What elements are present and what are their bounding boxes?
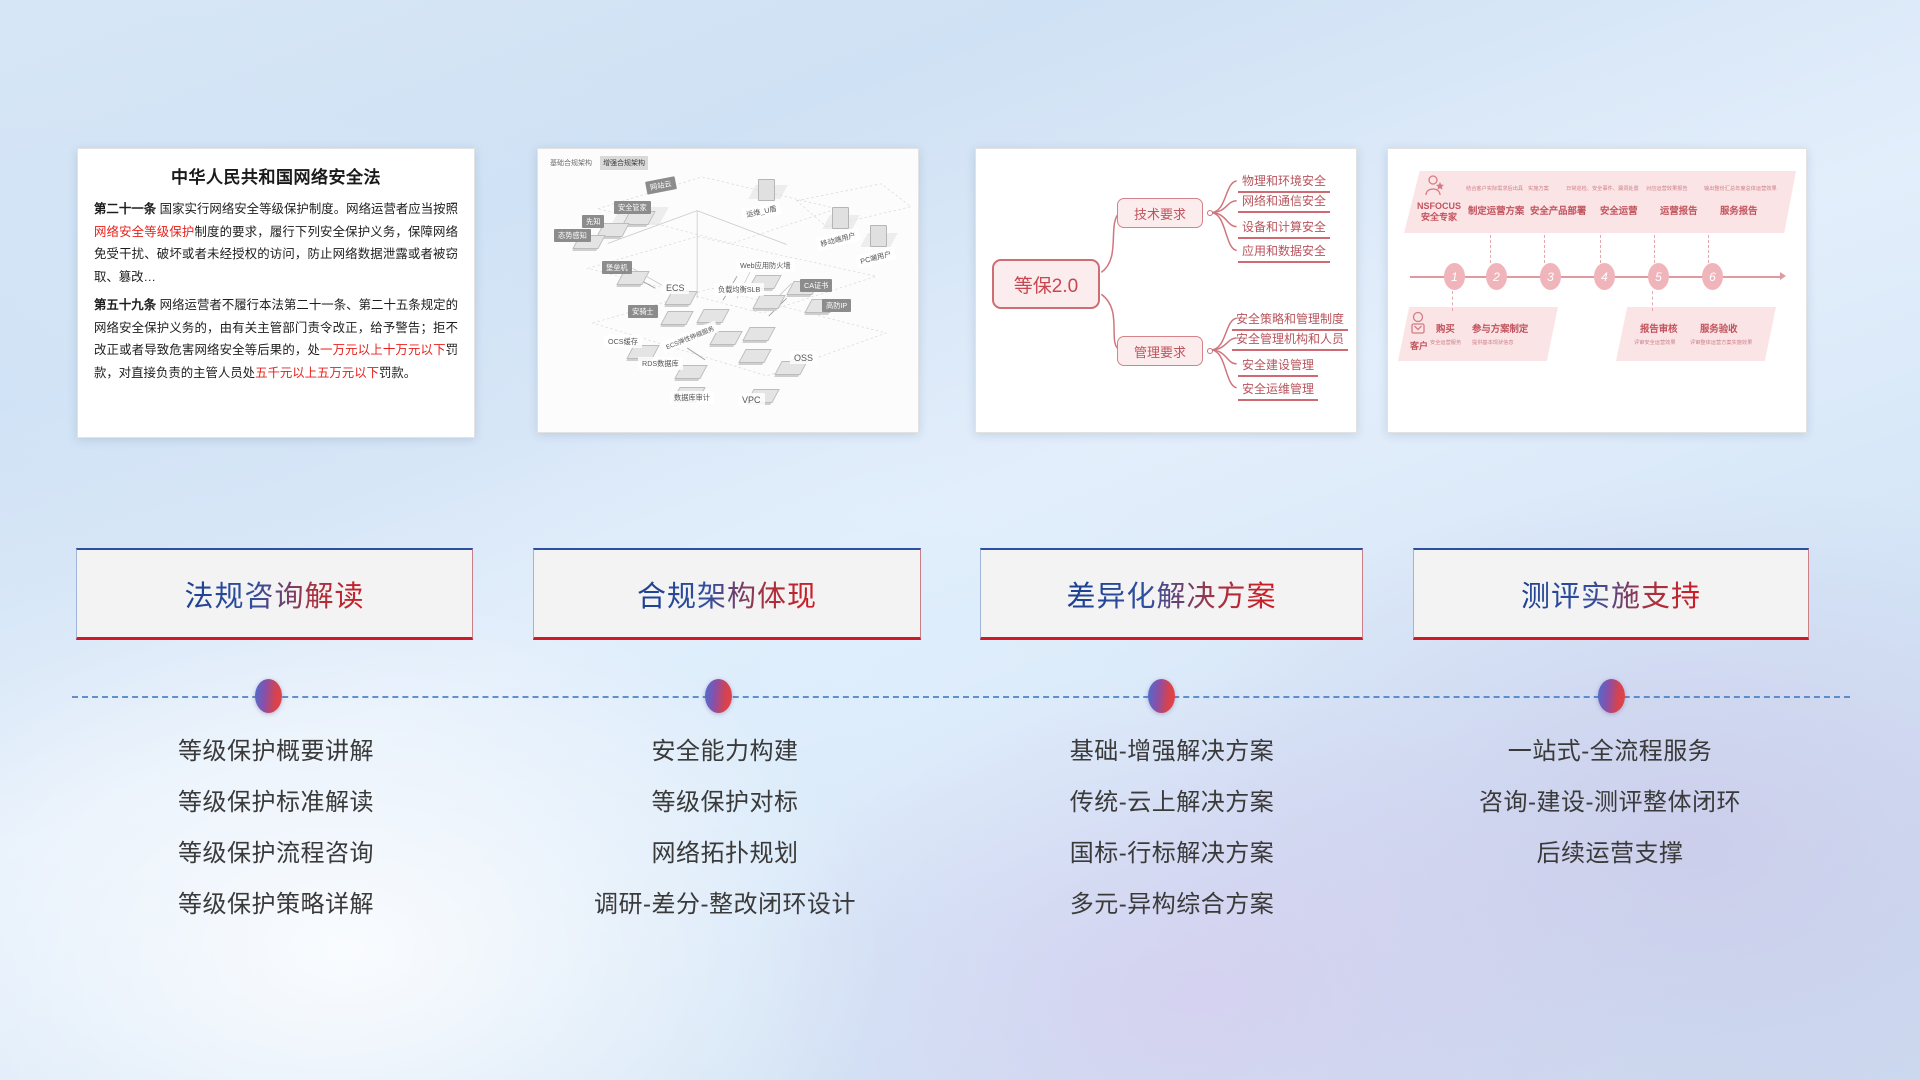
mindmap-leaf-physical-env: 物理和环境安全 xyxy=(1238,171,1330,193)
bottom-sub-2: 提供基本现状信息 xyxy=(1472,339,1514,346)
mindmap-leaf-network-comm: 网络和通信安全 xyxy=(1238,191,1330,213)
step-sub-2: 日常巡检、安全事件、漏洞处置 xyxy=(1566,185,1639,192)
expert-role: 安全专家 xyxy=(1410,212,1468,223)
step-title-5: 服务报告 xyxy=(1720,203,1758,217)
mindmap-branch-technical: 技术要求 xyxy=(1117,198,1203,228)
connector-2 xyxy=(1544,235,1545,263)
law-article-21: 第二十一条 国家实行网络安全等级保护制度。网络运营者应当按照网络安全等级保护制度… xyxy=(94,198,458,288)
timeline-node-3[interactable]: 3 xyxy=(1540,263,1561,290)
card-service-timeline: NSFOCUS 安全专家 客户 制定运营方案 结合客户实际需求后出具 实施方案 … xyxy=(1387,148,1807,433)
label-oss: OSS xyxy=(790,351,817,364)
step-sub-1: 结合客户实际需求后出具 xyxy=(1466,185,1523,192)
law-body: 第二十一条 国家实行网络安全等级保护制度。网络运营者应当按照网络安全等级保护制度… xyxy=(78,198,474,385)
bottom-title-2: 参与方案制定 xyxy=(1472,321,1528,335)
step-sub-3: 对应运营效果报告 xyxy=(1646,185,1688,192)
connector-6 xyxy=(1452,291,1453,311)
list-column-compliance-architecture: 安全能力构建 等级保护对标 网络拓扑规划 调研-差分-整改闭环设计 xyxy=(525,740,925,944)
heading-box-regulation-consulting[interactable]: 法规咨询解读 xyxy=(76,548,473,640)
bottom-title-3: 报告审核 xyxy=(1640,321,1678,335)
heading-label-1: 法规咨询解读 xyxy=(184,573,364,615)
timeline-bullet-2[interactable] xyxy=(705,679,732,713)
list-column-differentiated-solution: 基础-增强解决方案 传统-云上解决方案 国标-行标解决方案 多元-异构综合方案 xyxy=(972,740,1372,944)
list-item: 一站式-全流程服务 xyxy=(1410,740,1810,764)
list-item: 后续运营支撑 xyxy=(1410,842,1810,866)
mindmap-leaf-construction-mgmt: 安全建设管理 xyxy=(1238,355,1318,377)
law-article-59: 第五十九条 网络运营者不履行本法第二十一条、第二十五条规定的网络安全保护义务的，… xyxy=(94,294,458,384)
mindmap-leaf-org-personnel: 安全管理机构和人员 xyxy=(1232,329,1348,351)
list-item: 等级保护标准解读 xyxy=(76,791,476,815)
mindmap-dot-management xyxy=(1207,348,1213,354)
expert-brand: NSFOCUS xyxy=(1410,201,1468,212)
mindmap-leaf-device-compute: 设备和计算安全 xyxy=(1238,217,1330,239)
step-sub-1b: 实施方案 xyxy=(1528,185,1549,192)
heading-label-4: 测评实施支持 xyxy=(1521,573,1701,615)
server-pc-user xyxy=(870,225,887,247)
timeline-node-2[interactable]: 2 xyxy=(1486,263,1507,290)
label-xianzhi: 先知 xyxy=(582,215,604,228)
mindmap-root: 等保2.0 xyxy=(992,259,1100,309)
label-ca-certificate: CA证书 xyxy=(800,279,832,292)
heading-label-2: 合规架构体现 xyxy=(637,573,817,615)
card-cybersecurity-law: 中华人民共和国网络安全法 第二十一条 国家实行网络安全等级保护制度。网络运营者应… xyxy=(77,148,475,438)
label-security-butler: 安全管家 xyxy=(614,201,651,214)
timeline-node-4[interactable]: 4 xyxy=(1594,263,1615,290)
label-situation-awareness: 态势感知 xyxy=(554,229,591,242)
connector-4 xyxy=(1654,235,1655,263)
list-item: 等级保护概要讲解 xyxy=(76,740,476,764)
list-item: 安全能力构建 xyxy=(525,740,925,764)
expert-person-icon xyxy=(1424,175,1446,199)
article-59-fine-2: 五千元以上五万元以下 xyxy=(255,366,379,380)
bottom-title-4: 服务验收 xyxy=(1700,321,1738,335)
lists-row: 等级保护概要讲解 等级保护标准解读 等级保护流程咨询 等级保护策略详解 安全能力… xyxy=(0,740,1920,960)
label-ocs-cache: OCS缓存 xyxy=(604,335,642,348)
list-item: 等级保护流程咨询 xyxy=(76,842,476,866)
mindmap-branch-management: 管理要求 xyxy=(1117,336,1203,366)
label-ecs: ECS xyxy=(662,281,689,294)
label-gaofang-ip: 高防IP xyxy=(822,299,851,312)
label-slb: 负载均衡SLB xyxy=(714,283,764,296)
timeline-bullet-3[interactable] xyxy=(1148,679,1175,713)
timeline-node-5[interactable]: 5 xyxy=(1648,263,1669,290)
label-bastion-host: 堡垒机 xyxy=(602,261,632,274)
heading-box-assessment-support[interactable]: 测评实施支持 xyxy=(1413,548,1809,640)
list-item: 国标-行标解决方案 xyxy=(972,842,1372,866)
label-rds-database: RDS数据库 xyxy=(638,357,683,370)
step-title-2: 安全产品部署 xyxy=(1530,203,1586,217)
connector-1 xyxy=(1490,235,1491,263)
article-59-label: 第五十九条 xyxy=(94,298,156,312)
label-waf: Web应用防火墙 xyxy=(736,259,795,272)
timeline-bullet-4[interactable] xyxy=(1598,679,1625,713)
timeline-arrow-icon xyxy=(1780,272,1786,280)
card-mindmap-dengbao: 等保2.0 技术要求 物理和环境安全 网络和通信安全 设备和计算安全 应用和数据… xyxy=(975,148,1357,433)
bottom-sub-1: 安全运营服务 xyxy=(1430,339,1461,346)
list-column-regulation-consulting: 等级保护概要讲解 等级保护标准解读 等级保护流程咨询 等级保护策略详解 xyxy=(76,740,476,944)
list-item: 基础-增强解决方案 xyxy=(972,740,1372,764)
cards-row: 中华人民共和国网络安全法 第二十一条 国家实行网络安全等级保护制度。网络运营者应… xyxy=(0,148,1920,448)
customer-person-icon xyxy=(1408,311,1428,337)
article-59-fine-1: 一万元以上十万元以下 xyxy=(320,343,446,357)
article-21-text-1: 国家实行网络安全等级保护制度。网络运营者应当按照 xyxy=(156,202,458,216)
step-title-1: 制定运营方案 xyxy=(1468,203,1524,217)
article-21-highlight: 网络安全等级保护 xyxy=(94,225,194,239)
service-timeline: NSFOCUS 安全专家 客户 制定运营方案 结合客户实际需求后出具 实施方案 … xyxy=(1388,149,1806,432)
list-item: 咨询-建设-测评整体闭环 xyxy=(1410,791,1810,815)
mindmap: 等保2.0 技术要求 物理和环境安全 网络和通信安全 设备和计算安全 应用和数据… xyxy=(976,149,1356,432)
expert-actor-label: NSFOCUS 安全专家 xyxy=(1410,201,1468,224)
heading-box-compliance-architecture[interactable]: 合规架构体现 xyxy=(533,548,921,640)
timeline-node-6[interactable]: 6 xyxy=(1702,263,1723,290)
connector-3 xyxy=(1600,235,1601,263)
architecture-diagram: 基础合规架构 增强合规架构 xyxy=(538,149,918,432)
step-title-4: 运营报告 xyxy=(1660,203,1698,217)
connector-5 xyxy=(1708,235,1709,263)
list-item: 网络拓扑规划 xyxy=(525,842,925,866)
list-item: 等级保护策略详解 xyxy=(76,893,476,917)
list-item: 传统-云上解决方案 xyxy=(972,791,1372,815)
headings-row: 法规咨询解读 合规架构体现 差异化解决方案 测评实施支持 xyxy=(0,548,1920,648)
process-timeline-line xyxy=(72,696,1850,698)
server-mobile-user xyxy=(832,207,849,229)
mindmap-leaf-ops-mgmt: 安全运维管理 xyxy=(1238,379,1318,401)
mindmap-leaf-app-data: 应用和数据安全 xyxy=(1238,241,1330,263)
law-title: 中华人民共和国网络安全法 xyxy=(78,149,474,198)
article-59-text-3: 罚款。 xyxy=(379,366,416,380)
heading-label-3: 差异化解决方案 xyxy=(1066,573,1276,615)
timeline-node-1[interactable]: 1 xyxy=(1444,263,1465,290)
card-cloud-architecture: 基础合规架构 增强合规架构 xyxy=(537,148,919,433)
list-item: 等级保护对标 xyxy=(525,791,925,815)
heading-box-differentiated-solution[interactable]: 差异化解决方案 xyxy=(980,548,1363,640)
bottom-sub-3: 评审安全运营效果 xyxy=(1634,339,1676,346)
list-item: 多元-异构综合方案 xyxy=(972,893,1372,917)
connector-7 xyxy=(1652,291,1653,311)
label-database-audit: 数据库审计 xyxy=(670,391,714,404)
list-item: 调研-差分-整改闭环设计 xyxy=(525,893,925,917)
bottom-sub-4: 评审整体运营方案实施效果 xyxy=(1690,339,1752,346)
mindmap-leaf-policy-system: 安全策略和管理制度 xyxy=(1232,309,1348,331)
label-vpc: VPC xyxy=(738,393,765,406)
timeline-bullet-1[interactable] xyxy=(255,679,282,713)
step-title-3: 安全运营 xyxy=(1600,203,1638,217)
list-column-assessment-support: 一站式-全流程服务 咨询-建设-测评整体闭环 后续运营支撑 xyxy=(1410,740,1810,893)
step-sub-4: 输出整份汇总年度总体运营效果 xyxy=(1704,185,1777,192)
label-anqishi: 安骑士 xyxy=(628,305,658,318)
bottom-title-1: 购买 xyxy=(1436,321,1455,335)
server-ops-ukey xyxy=(758,179,775,201)
mindmap-dot-technical xyxy=(1207,210,1213,216)
article-21-label: 第二十一条 xyxy=(94,202,156,216)
